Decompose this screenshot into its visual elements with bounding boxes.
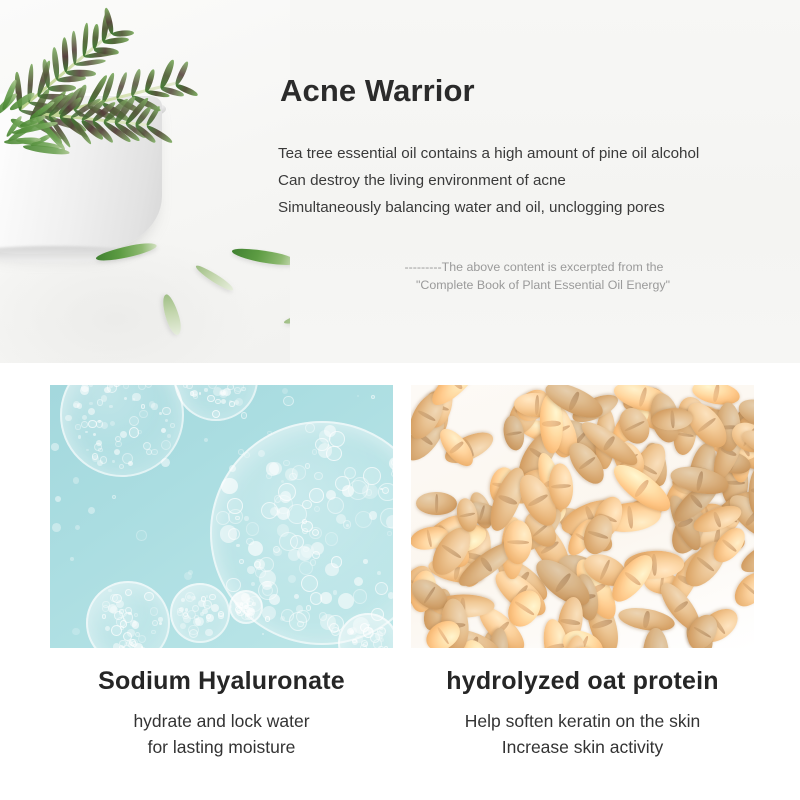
wheat-grain	[503, 520, 532, 564]
wheat-grains-image	[411, 385, 754, 648]
ingredient-description-line: Increase skin activity	[411, 734, 754, 760]
ingredient-description: hydrate and lock water for lasting moist…	[50, 708, 393, 760]
ingredient-description-line: hydrate and lock water	[50, 708, 393, 734]
hero-text-block: Acne Warrior Tea tree essential oil cont…	[278, 0, 790, 363]
ingredient-description-line: for lasting moisture	[50, 734, 393, 760]
hero-section: Acne Warrior Tea tree essential oil cont…	[0, 0, 800, 363]
ingredient-card-hydrolyzed-oat-protein: hydrolyzed oat protein Help soften kerat…	[411, 385, 754, 760]
source-attribution: ---------The above content is excerpted …	[278, 258, 790, 294]
attribution-line-2: "Complete Book of Plant Essential Oil En…	[278, 276, 790, 294]
rosemary-bowl-photo	[0, 0, 290, 363]
ingredient-title: hydrolyzed oat protein	[411, 668, 754, 696]
fallen-leaf	[194, 263, 235, 294]
fallen-leaf	[160, 293, 184, 337]
hero-body-copy: Tea tree essential oil contains a high a…	[278, 140, 786, 221]
bubbles-image	[50, 385, 393, 648]
ingredient-title: Sodium Hyaluronate	[50, 668, 393, 696]
page-title: Acne Warrior	[280, 75, 475, 106]
hero-body-line: Can destroy the living environment of ac…	[278, 167, 786, 194]
ingredient-description-line: Help soften keratin on the skin	[411, 708, 754, 734]
ingredients-section: Sodium Hyaluronate hydrate and lock wate…	[0, 363, 800, 800]
ingredient-description: Help soften keratin on the skin Increase…	[411, 708, 754, 760]
hero-body-line: Simultaneously balancing water and oil, …	[278, 194, 786, 221]
attribution-line-1: ---------The above content is excerpted …	[278, 258, 790, 276]
wheat-grain	[416, 491, 458, 515]
ingredient-card-sodium-hyaluronate: Sodium Hyaluronate hydrate and lock wate…	[50, 385, 393, 760]
hero-body-line: Tea tree essential oil contains a high a…	[278, 140, 786, 167]
